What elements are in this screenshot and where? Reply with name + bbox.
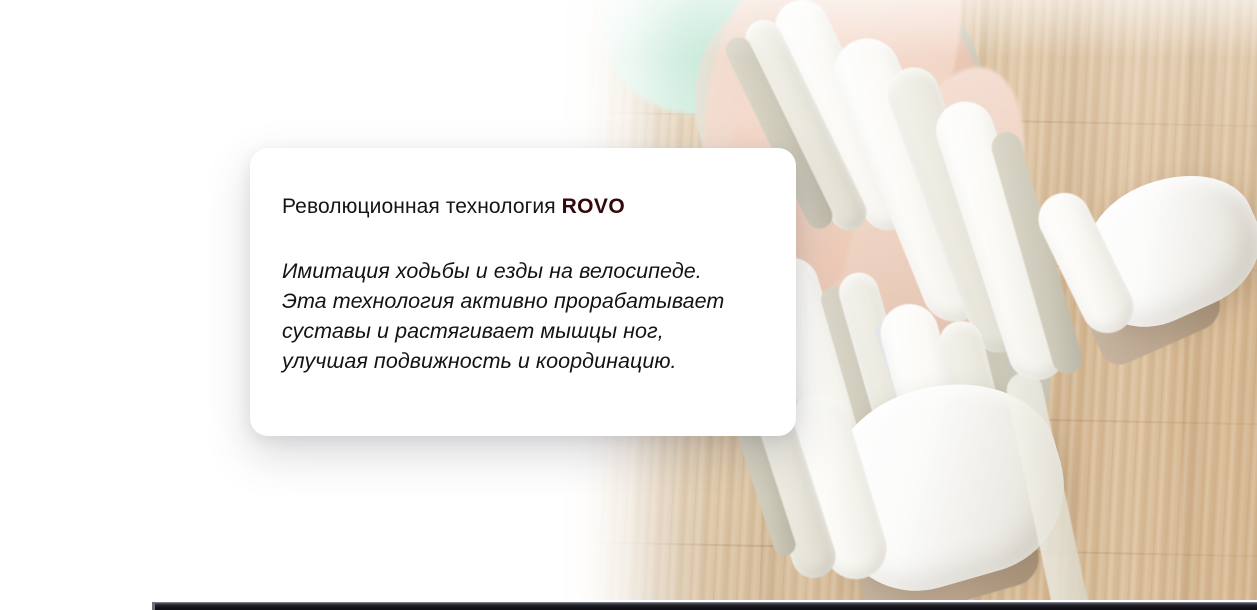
info-card: Революционная технология ROVO Имитация х… (250, 148, 796, 436)
card-body-line: Имитация ходьбы и езды на велосипеде. (282, 256, 756, 286)
card-body-line: Эта технология активно прорабатывает (282, 286, 756, 316)
slide-root: Революционная технология ROVO Имитация х… (0, 0, 1257, 610)
rovo-brand-label: ROVO (562, 195, 625, 218)
bottom-progress-bar-cap (152, 602, 155, 610)
bottom-progress-bar[interactable] (152, 602, 1257, 610)
card-title-prefix: Революционная технология (282, 195, 562, 218)
info-card-inner: Революционная технология ROVO Имитация х… (250, 148, 796, 376)
card-body-line: суставы и растягивает мышцы ног, (282, 316, 756, 346)
card-body-line: улучшая подвижность и координацию. (282, 346, 756, 376)
card-body: Имитация ходьбы и езды на велосипеде. Эт… (282, 256, 756, 376)
photo-top-fade (560, 0, 1257, 58)
card-title: Революционная технология ROVO (282, 194, 756, 220)
